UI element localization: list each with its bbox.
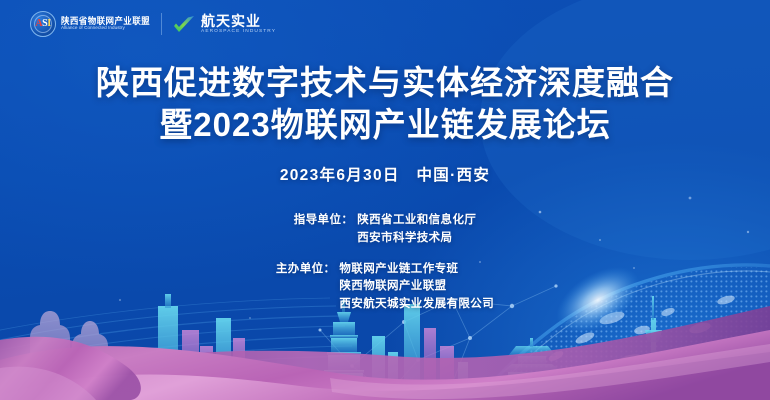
event-poster: A S I 陕西省物联网产业联盟 Alliance of Connected I… bbox=[0, 0, 770, 400]
organizer-group-guidance: 指导单位： 陕西省工业和信息化厅 西安市科学技术局 bbox=[294, 212, 477, 248]
poster-title-block: 陕西促进数字技术与实体经济深度融合 暨2023物联网产业链发展论坛 bbox=[0, 66, 770, 143]
organizer-block: 指导单位： 陕西省工业和信息化厅 西安市科学技术局 主办单位： 物联网产业链工作… bbox=[0, 212, 770, 314]
logo-aerospace-name-cn: 航天实业 bbox=[201, 14, 276, 28]
organizer-list: 陕西省工业和信息化厅 西安市科学技术局 bbox=[357, 212, 476, 248]
asi-letter-a: A bbox=[35, 19, 42, 29]
header-logo-bar: A S I 陕西省物联网产业联盟 Alliance of Connected I… bbox=[30, 11, 276, 37]
organizer-label: 主办单位： bbox=[276, 261, 336, 279]
organizer-label: 指导单位： bbox=[294, 212, 354, 230]
organizer-group-host: 主办单位： 物联网产业链工作专班 陕西物联网产业联盟 西安航天城实业发展有限公司 bbox=[276, 261, 494, 314]
poster-background-artwork bbox=[0, 0, 770, 400]
aerospace-check-icon bbox=[173, 15, 195, 33]
logo-alliance-name-cn: 陕西省物联网产业联盟 bbox=[61, 17, 150, 26]
organizer-item: 西安市科学技术局 bbox=[357, 230, 476, 248]
logo-alliance-name-en: Alliance of Connected Industry bbox=[61, 26, 150, 31]
asi-emblem-icon: A S I bbox=[30, 11, 56, 37]
organizer-item: 物联网产业链工作专班 bbox=[339, 261, 494, 279]
organizer-item: 陕西物联网产业联盟 bbox=[339, 278, 494, 296]
organizer-list: 物联网产业链工作专班 陕西物联网产业联盟 西安航天城实业发展有限公司 bbox=[339, 261, 494, 314]
logo-divider bbox=[161, 13, 162, 35]
organizer-item: 陕西省工业和信息化厅 bbox=[357, 212, 476, 230]
logo-aerospace: 航天实业 AEROSPACE INDUSTRY bbox=[173, 14, 276, 35]
logo-aerospace-name-en: AEROSPACE INDUSTRY bbox=[201, 30, 276, 35]
logo-alliance: A S I 陕西省物联网产业联盟 Alliance of Connected I… bbox=[30, 11, 150, 37]
organizer-item: 西安航天城实业发展有限公司 bbox=[339, 296, 494, 314]
logo-alliance-text: 陕西省物联网产业联盟 Alliance of Connected Industr… bbox=[61, 17, 150, 31]
asi-letter-i: I bbox=[47, 19, 50, 29]
logo-aerospace-text: 航天实业 AEROSPACE INDUSTRY bbox=[201, 14, 276, 35]
title-line-2: 暨2023物联网产业链发展论坛 bbox=[0, 108, 770, 143]
event-date-location: 2023年6月30日 中国·西安 bbox=[0, 163, 770, 185]
title-line-1: 陕西促进数字技术与实体经济深度融合 bbox=[0, 66, 770, 101]
asi-letter-s: S bbox=[42, 19, 47, 29]
